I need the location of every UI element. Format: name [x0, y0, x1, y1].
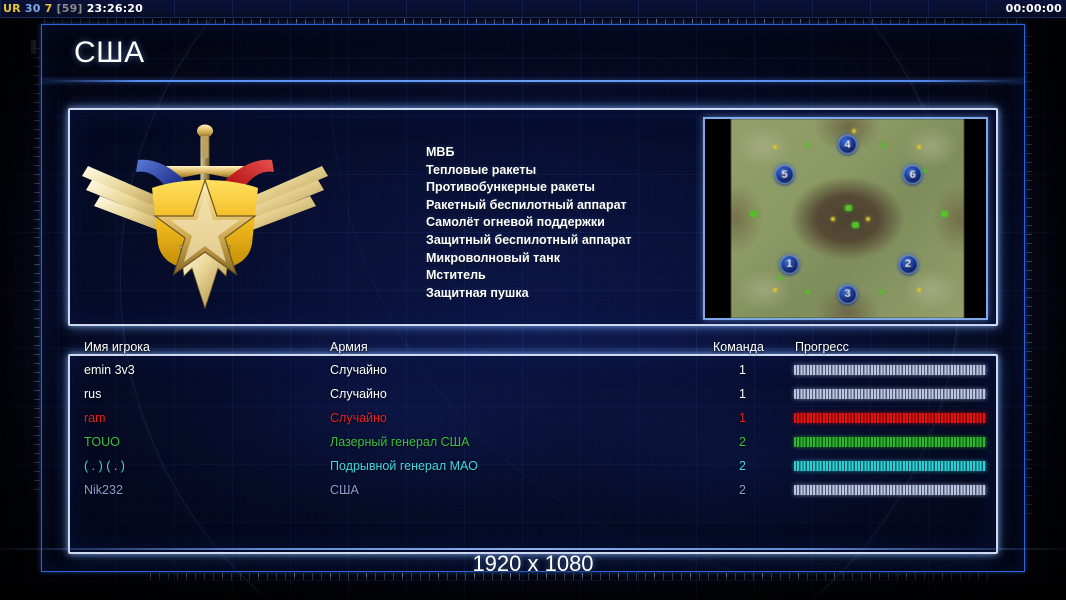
emblem-svg: [80, 118, 330, 318]
player-name: ram: [84, 411, 106, 425]
player-name: rus: [84, 387, 101, 401]
unit-item: Мститель: [426, 267, 632, 285]
start-position-marker[interactable]: 5: [775, 165, 794, 184]
start-position-label: 6: [910, 169, 916, 181]
topbar-number-blue: 30: [25, 2, 41, 15]
resource-node: [852, 222, 859, 228]
start-position-label: 1: [786, 258, 792, 270]
player-army[interactable]: Случайно: [330, 387, 387, 401]
resource-node: [880, 290, 884, 294]
table-row[interactable]: emin 3v3 Случайно 1: [68, 360, 998, 384]
unit-item: Защитная пушка: [426, 285, 632, 303]
progress-fill: [794, 485, 986, 495]
resource-node: [917, 288, 921, 292]
player-table-headers: Имя игрока Армия Команда Прогресс: [68, 340, 998, 356]
topbar-timer: 00:00:00: [1006, 2, 1062, 15]
unit-item: Самолёт огневой поддержки: [426, 214, 632, 232]
ruler-corner-mark: [31, 40, 36, 54]
topbar-clock: 23:26:20: [87, 2, 143, 15]
player-progress-bar: [794, 389, 986, 399]
topbar-bracket-value: [59]: [56, 2, 82, 15]
start-position-marker[interactable]: 1: [780, 255, 799, 274]
ruler-left: [34, 48, 40, 493]
player-progress-bar: [794, 461, 986, 471]
ruler-right: [1026, 36, 1032, 516]
column-header-name: Имя игрока: [84, 340, 150, 354]
progress-fill: [794, 413, 986, 423]
resource-node: [750, 211, 757, 217]
progress-fill: [794, 389, 986, 399]
topbar-number-gold: 7: [45, 2, 53, 15]
start-position-marker[interactable]: 6: [903, 165, 922, 184]
start-position-label: 5: [782, 169, 788, 181]
resource-node: [773, 145, 777, 149]
resource-node: [773, 288, 777, 292]
progress-fill: [794, 365, 986, 375]
start-position-marker[interactable]: 4: [838, 135, 857, 154]
edge-shade-bottom: [0, 574, 1066, 600]
player-army[interactable]: Подрывной генерал МАО: [330, 459, 478, 473]
unit-item: Тепловые ракеты: [426, 162, 632, 180]
player-progress-bar: [794, 413, 986, 423]
player-army[interactable]: США: [330, 483, 359, 497]
usa-eagle-emblem: [80, 118, 330, 318]
player-army[interactable]: Лазерный генерал США: [330, 435, 469, 449]
unit-item: Микроволновый танк: [426, 250, 632, 268]
table-row[interactable]: rus Случайно 1: [68, 384, 998, 408]
start-position-label: 4: [844, 139, 850, 151]
player-progress-bar: [794, 437, 986, 447]
player-team[interactable]: 2: [704, 435, 746, 449]
table-row[interactable]: Nik232 США 2: [68, 480, 998, 504]
player-name: Nik232: [84, 483, 123, 497]
resource-node: [917, 145, 921, 149]
map-preview[interactable]: 1 2 3 4 5 6: [703, 117, 988, 320]
column-header-team: Команда: [713, 340, 764, 354]
resource-node: [806, 290, 810, 294]
resource-node: [922, 169, 926, 173]
player-name: TOUO: [84, 435, 120, 449]
resource-node: [866, 217, 870, 221]
unit-item: Защитный беспилотный аппарат: [426, 232, 632, 250]
unit-item: Противобункерные ракеты: [426, 179, 632, 197]
map-preview-image: 1 2 3 4 5 6: [731, 119, 964, 318]
start-position-label: 3: [844, 288, 850, 300]
player-rows: emin 3v3 Случайно 1 rus Случайно 1 ram С…: [68, 360, 998, 504]
resolution-label: 1920 x 1080: [0, 551, 1066, 577]
progress-fill: [794, 461, 986, 471]
progress-fill: [794, 437, 986, 447]
ruler-top-major: [44, 19, 1022, 22]
topbar-grid: [0, 0, 1066, 17]
resource-node: [845, 205, 852, 211]
player-team[interactable]: 2: [704, 483, 746, 497]
unit-item: МВБ: [426, 144, 632, 162]
resource-node: [882, 143, 886, 147]
player-progress-bar: [794, 485, 986, 495]
player-team[interactable]: 1: [704, 411, 746, 425]
resource-node: [852, 129, 856, 133]
player-name: ( . ) ( . ): [84, 459, 125, 473]
page-title: США: [74, 36, 145, 70]
unit-item: Ракетный беспилотный аппарат: [426, 197, 632, 215]
title-bar: США: [41, 24, 1025, 84]
resource-node: [806, 143, 810, 147]
column-header-progress: Прогресс: [795, 340, 849, 354]
title-divider: [41, 80, 1025, 82]
resource-node: [941, 211, 948, 217]
edge-shade-left: [0, 18, 34, 600]
topbar-stats: UR 30 7 [59] 23:26:20: [0, 2, 143, 15]
resolution-underline: [0, 548, 1066, 550]
player-team[interactable]: 1: [704, 387, 746, 401]
start-position-marker[interactable]: 2: [899, 255, 918, 274]
player-team[interactable]: 2: [704, 459, 746, 473]
player-progress-bar: [794, 365, 986, 375]
table-row[interactable]: ram Случайно 1: [68, 408, 998, 432]
player-army[interactable]: Случайно: [330, 363, 387, 377]
start-position-marker[interactable]: 3: [838, 285, 857, 304]
faction-units-list: МВБ Тепловые ракеты Противобункерные рак…: [426, 144, 632, 302]
player-army[interactable]: Случайно: [330, 411, 387, 425]
topbar-ur-label: UR: [3, 2, 21, 15]
player-name: emin 3v3: [84, 363, 135, 377]
resource-node: [831, 217, 835, 221]
game-lobby-screen: UR 30 7 [59] 23:26:20 00:00:00 США: [0, 0, 1066, 600]
player-team[interactable]: 1: [704, 363, 746, 377]
table-row[interactable]: ( . ) ( . ) Подрывной генерал МАО 2: [68, 456, 998, 480]
table-row[interactable]: TOUO Лазерный генерал США 2: [68, 432, 998, 456]
resource-node: [778, 276, 782, 280]
edge-shade-right: [1032, 18, 1066, 600]
top-status-bar: UR 30 7 [59] 23:26:20 00:00:00: [0, 0, 1066, 18]
column-header-army: Армия: [330, 340, 368, 354]
start-position-label: 2: [905, 258, 911, 270]
